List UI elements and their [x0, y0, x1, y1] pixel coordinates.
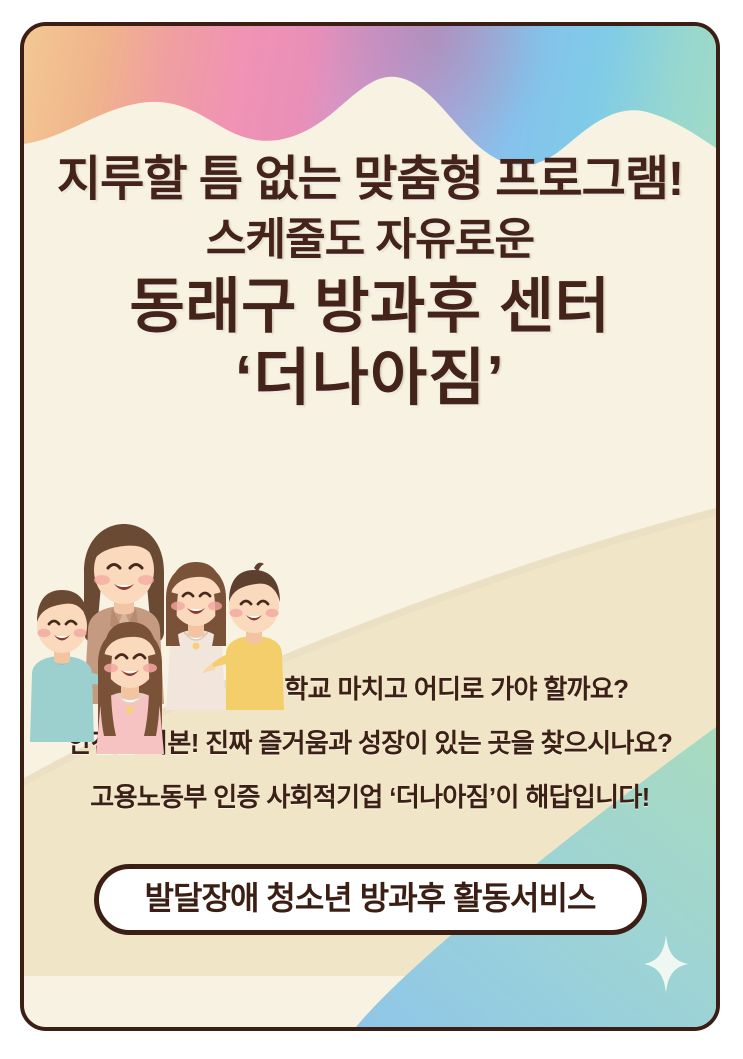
family-group-illustration — [26, 514, 284, 754]
poster-canvas: 지루할 틈 없는 맞춤형 프로그램! 스케줄도 자유로운 동래구 방과후 센터 … — [0, 0, 743, 1059]
headline-block: 지루할 틈 없는 맞춤형 프로그램! 스케줄도 자유로운 동래구 방과후 센터 … — [24, 154, 716, 413]
body-copy-line-3: 고용노동부 인증 사회적기업 ‘더나아짐’이 해답입니다! — [24, 784, 716, 810]
headline-line-3-center-name: 동래구 방과후 센터 — [24, 275, 716, 340]
service-pill-badge: 발달장애 청소년 방과후 활동서비스 — [94, 864, 647, 935]
headline-line-4-brand-name: ‘더나아짐’ — [24, 346, 716, 413]
headline-line-2: 스케줄도 자유로운 — [24, 216, 716, 264]
headline-line-1: 지루할 틈 없는 맞춤형 프로그램! — [24, 154, 716, 206]
service-pill-row: 발달장애 청소년 방과후 활동서비스 — [24, 864, 716, 935]
poster-frame: 지루할 틈 없는 맞춤형 프로그램! 스케줄도 자유로운 동래구 방과후 센터 … — [20, 22, 720, 1031]
